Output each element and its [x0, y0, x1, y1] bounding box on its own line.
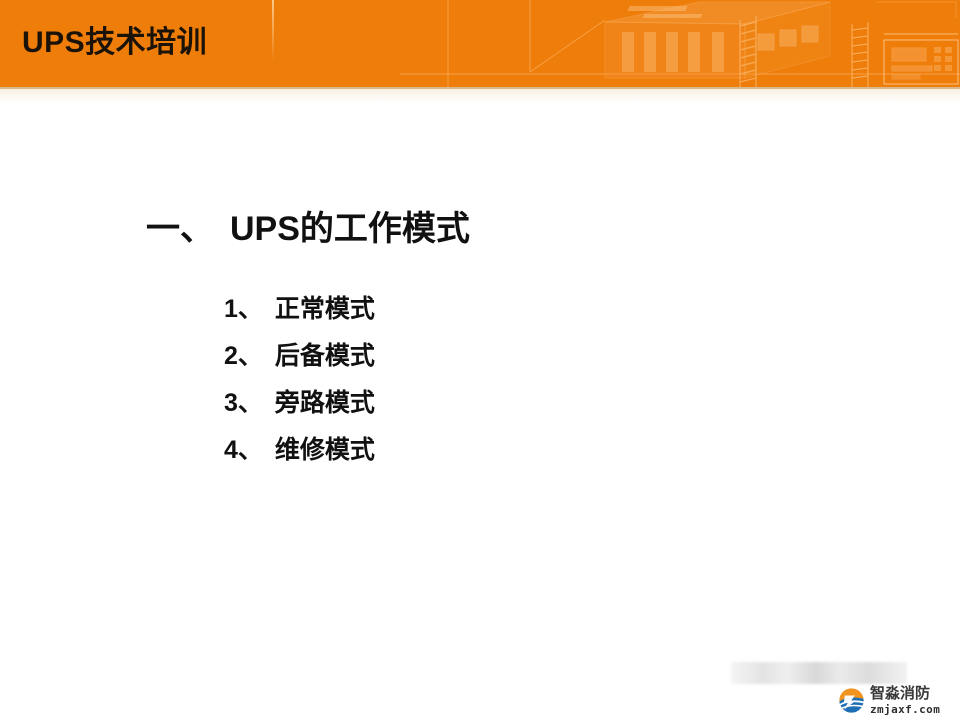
list-item: 3、旁路模式: [224, 380, 375, 427]
page-title: UPS技术培训: [22, 25, 207, 61]
list-item: 1、正常模式: [224, 286, 375, 333]
header-fade: [0, 89, 960, 103]
list-item-number: 3、: [224, 380, 263, 427]
ups-cabinet-blueprint-art: [400, 0, 960, 87]
list-item-number: 4、: [224, 427, 263, 474]
section-heading: 一、UPS的工作模式: [146, 207, 470, 251]
watermark-logo: 智淼消防 zmjaxf.com: [838, 684, 940, 716]
slide: UPS技术培训 一、UPS的工作模式 1、正常模式 2、后备模式 3、旁路模式 …: [0, 0, 960, 720]
section-marker: 一、: [146, 207, 214, 251]
section-title: UPS的工作模式: [230, 210, 470, 248]
slide-header: UPS技术培训: [0, 0, 960, 87]
watermark-name: 智淼消防: [870, 686, 940, 701]
redacted-region: [731, 662, 907, 684]
list-item: 4、维修模式: [224, 427, 375, 474]
list-item-label: 维修模式: [275, 436, 375, 464]
watermark-text: 智淼消防 zmjaxf.com: [870, 686, 940, 715]
list-item-number: 1、: [224, 286, 263, 333]
list-item: 2、后备模式: [224, 333, 375, 380]
list-item-label: 正常模式: [275, 295, 375, 323]
work-mode-list: 1、正常模式 2、后备模式 3、旁路模式 4、维修模式: [224, 286, 375, 474]
header-accent-line: [272, 0, 274, 62]
watermark-url: zmjaxf.com: [870, 704, 940, 715]
list-item-number: 2、: [224, 333, 263, 380]
list-item-label: 后备模式: [275, 342, 375, 370]
zmjaxf-badge-icon: [838, 687, 865, 714]
list-item-label: 旁路模式: [275, 389, 375, 417]
